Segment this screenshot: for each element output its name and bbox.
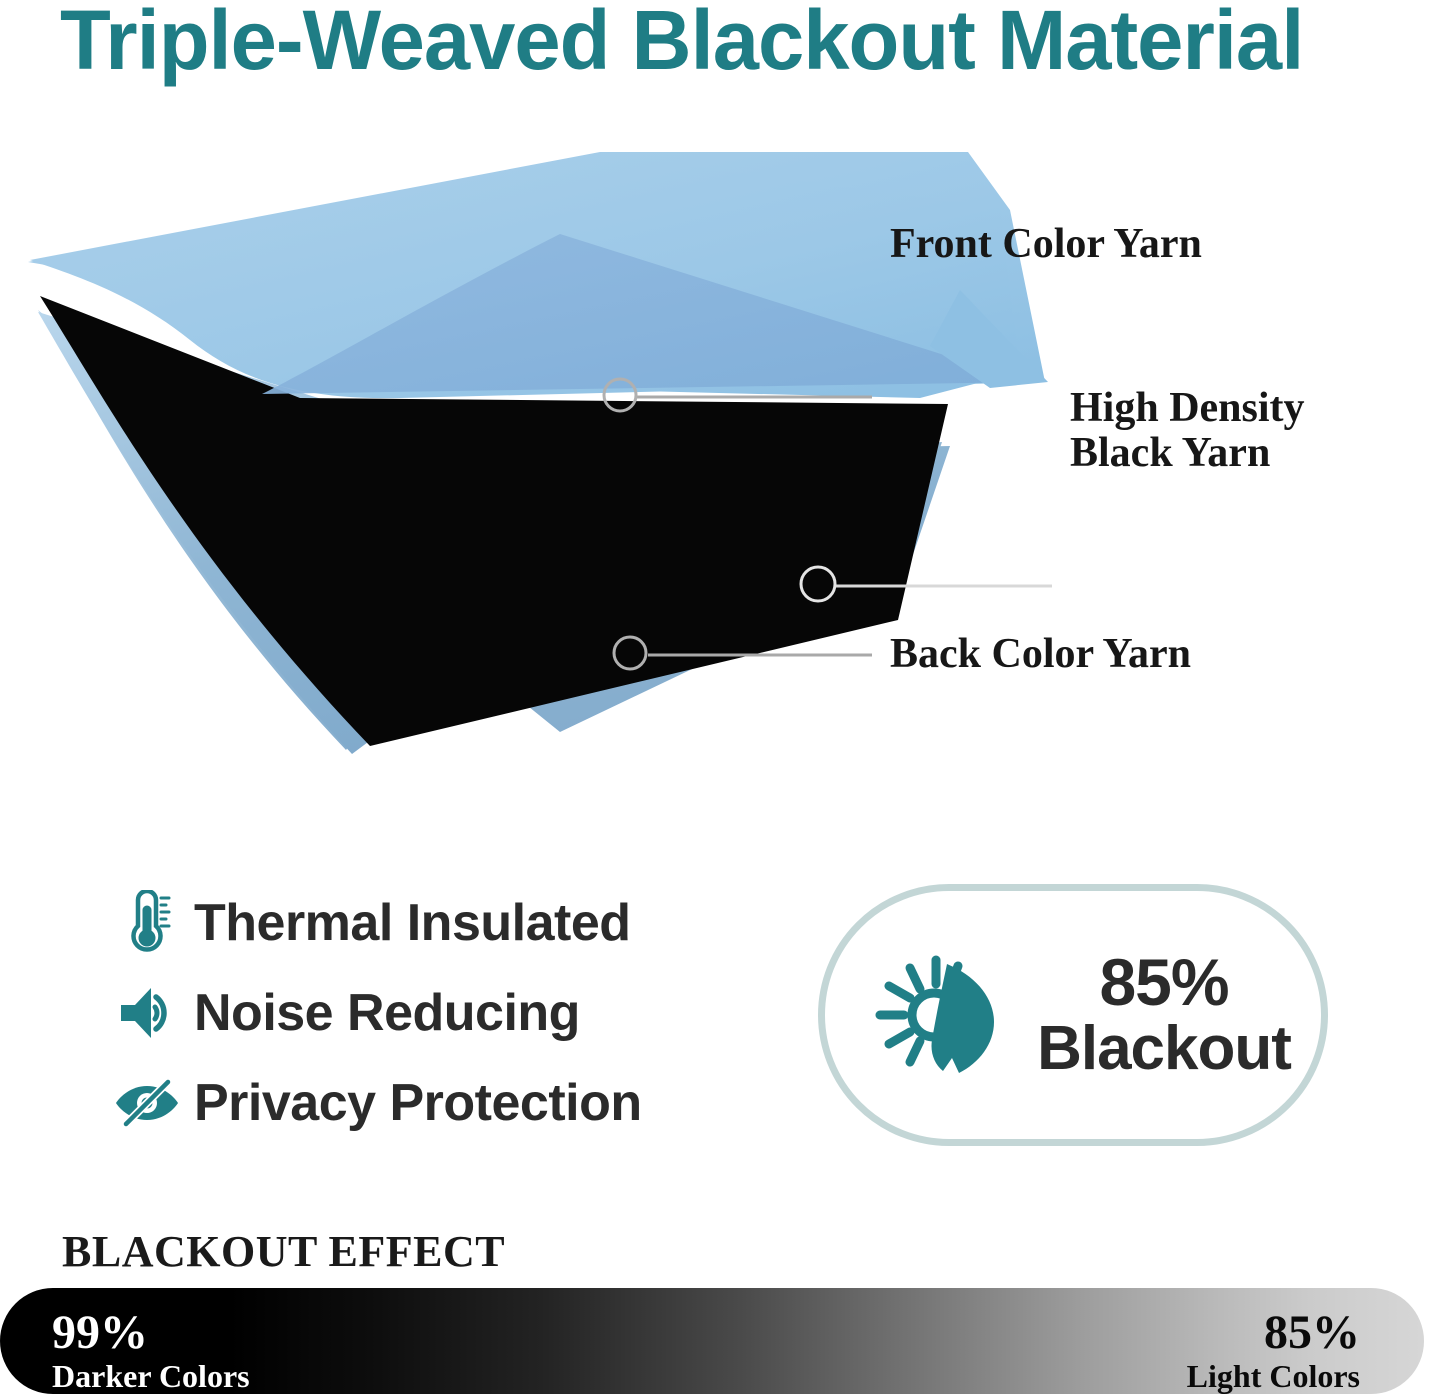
page-title: Triple-Weaved Blackout Material	[60, 0, 1387, 88]
feature-label: Privacy Protection	[194, 1073, 642, 1133]
eye-slash-icon	[108, 1076, 186, 1130]
blackout-effect-gradient-bar: 99% Darker Colors 85% Light Colors	[0, 1288, 1424, 1394]
badge-text-block: 85% Blackout	[1025, 949, 1321, 1081]
effect-left-group: 99% Darker Colors	[52, 1308, 250, 1395]
feature-list: Thermal Insulated Noise Reducing Privacy…	[108, 878, 748, 1148]
callout-label-high-density-black-yarn: High Density Black Yarn	[1070, 386, 1305, 477]
callout-label-line2: Black Yarn	[1070, 431, 1305, 476]
badge-percent: 85%	[1099, 949, 1228, 1016]
blackout-effect-heading: BLACKOUT EFFECT	[62, 1226, 505, 1277]
feature-label: Noise Reducing	[194, 983, 580, 1043]
effect-right-group: 85% Light Colors	[1187, 1308, 1360, 1395]
effect-left-percent: 99%	[52, 1308, 250, 1358]
feature-item-noise-reducing: Noise Reducing	[108, 968, 748, 1058]
effect-right-percent: 85%	[1187, 1308, 1360, 1358]
effect-left-caption: Darker Colors	[52, 1358, 250, 1395]
feature-label: Thermal Insulated	[194, 893, 631, 953]
thermometer-icon	[108, 890, 186, 956]
speaker-sound-icon	[108, 984, 186, 1042]
sun-blackout-icon	[825, 940, 1025, 1090]
feature-item-privacy-protection: Privacy Protection	[108, 1058, 748, 1148]
callout-label-front-color-yarn: Front Color Yarn	[890, 222, 1202, 267]
effect-right-caption: Light Colors	[1187, 1358, 1360, 1395]
callout-label-line1: High Density	[1070, 386, 1305, 431]
blackout-percentage-badge: 85% Blackout	[818, 884, 1328, 1146]
feature-item-thermal-insulated: Thermal Insulated	[108, 878, 748, 968]
badge-word: Blackout	[1037, 1016, 1291, 1081]
callout-label-back-color-yarn: Back Color Yarn	[890, 632, 1191, 677]
